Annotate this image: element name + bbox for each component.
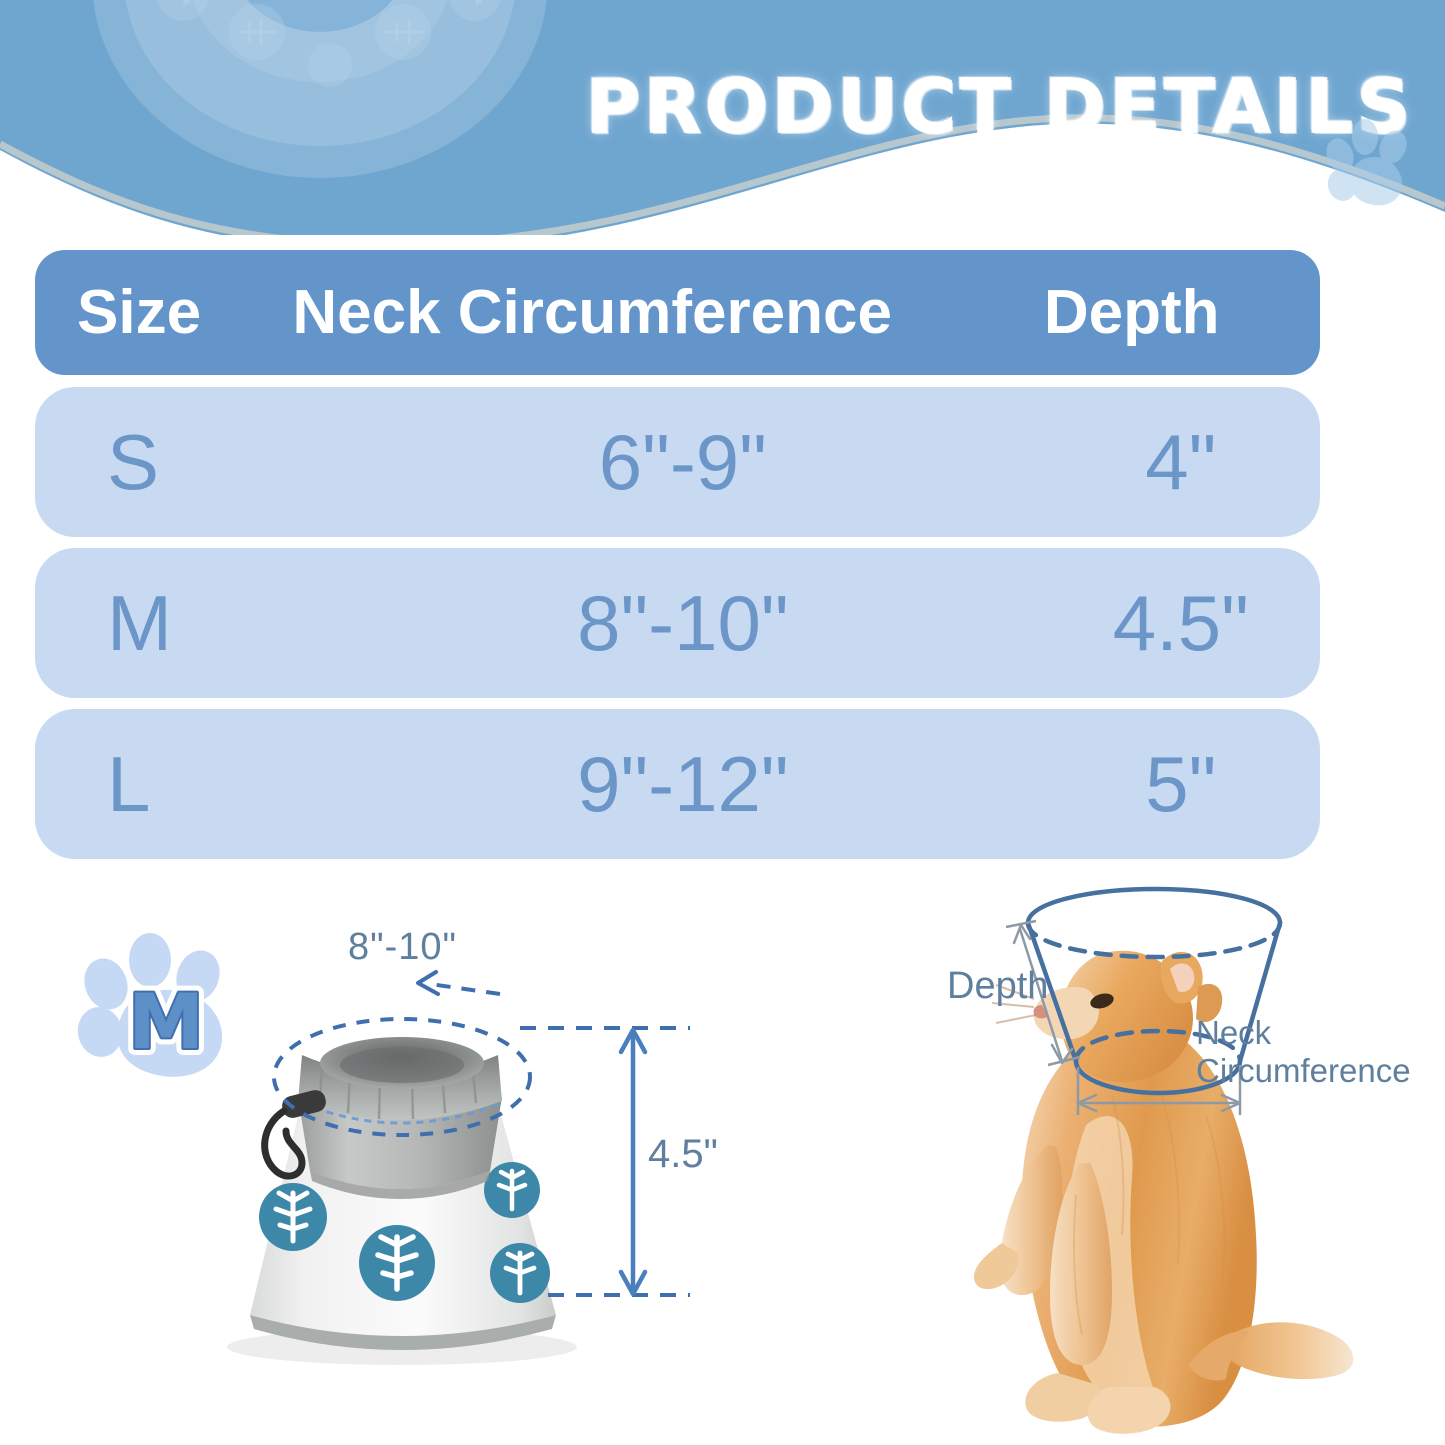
size-table: Size Neck Circumference Depth S 6"-9" 4"… bbox=[35, 250, 1320, 870]
cell-depth: 4" bbox=[1042, 417, 1320, 508]
cell-neck: 6"-9" bbox=[324, 417, 1041, 508]
cat-neck-label-line1: Neck bbox=[1196, 1014, 1411, 1052]
depth-measurement-label: 4.5" bbox=[648, 1132, 718, 1177]
cell-neck: 8"-10" bbox=[324, 578, 1041, 669]
cell-depth: 5" bbox=[1042, 739, 1320, 830]
column-header-neck: Neck Circumference bbox=[292, 282, 1004, 344]
table-row: L 9"-12" 5" bbox=[35, 709, 1320, 859]
table-row: S 6"-9" 4" bbox=[35, 387, 1320, 537]
cone-watermark-icon bbox=[85, 0, 555, 220]
table-row: M 8"-10" 4.5" bbox=[35, 548, 1320, 698]
column-header-depth: Depth bbox=[1004, 282, 1320, 344]
recovery-cone-image bbox=[190, 985, 610, 1370]
page-header: PRODUCT DETAILS bbox=[0, 0, 1445, 235]
table-header-row: Size Neck Circumference Depth bbox=[35, 250, 1320, 375]
paw-print-icon bbox=[1318, 115, 1428, 215]
cat-neck-circumference-label: Neck Circumference bbox=[1196, 1014, 1411, 1089]
cell-size: M bbox=[35, 578, 324, 669]
cell-neck: 9"-12" bbox=[324, 739, 1041, 830]
cell-size: L bbox=[35, 739, 324, 830]
cell-size: S bbox=[35, 417, 324, 508]
cell-depth: 4.5" bbox=[1042, 578, 1320, 669]
cat-neck-label-line2: Circumference bbox=[1196, 1052, 1411, 1090]
column-header-size: Size bbox=[35, 282, 292, 344]
neck-measurement-label: 8"-10" bbox=[348, 926, 457, 969]
page-title: PRODUCT DETAILS bbox=[570, 62, 1430, 152]
cat-depth-label: Depth bbox=[947, 965, 1048, 1008]
